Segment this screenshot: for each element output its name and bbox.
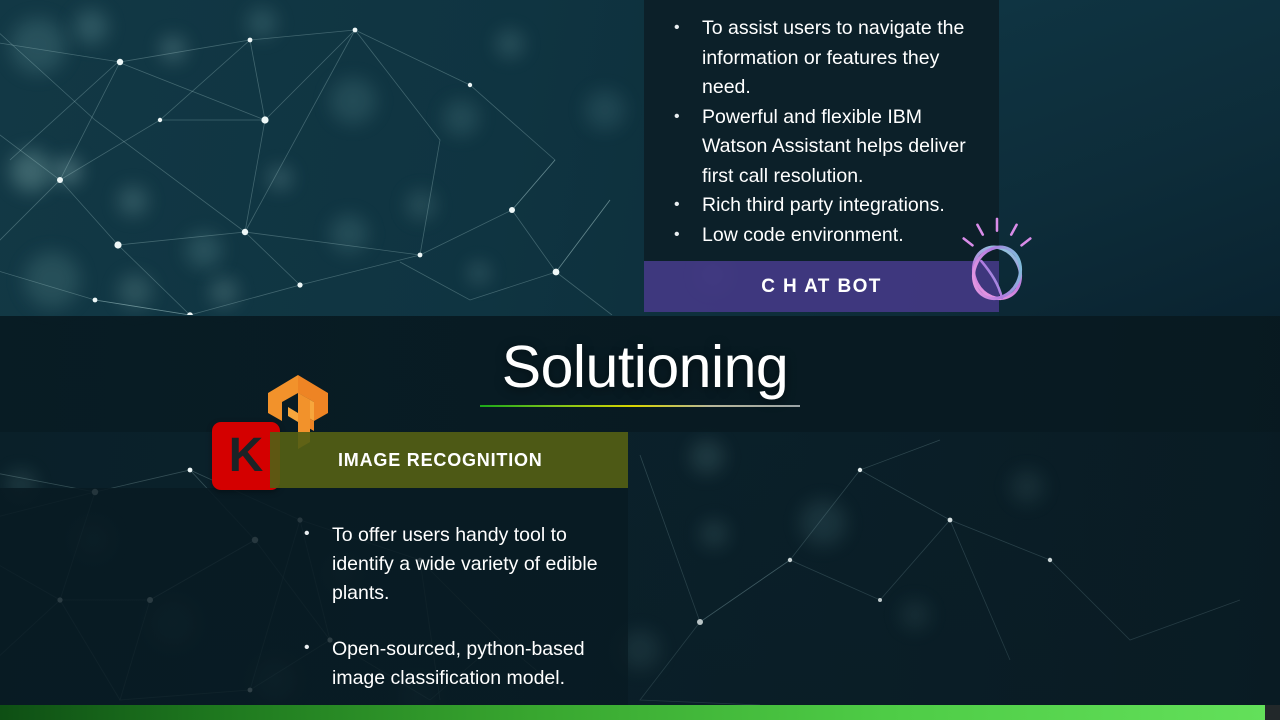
ibm-watson-logo	[948, 214, 1046, 312]
list-item: To assist users to navigate the informat…	[660, 14, 990, 103]
background-bottom-right-vignette	[628, 430, 1280, 720]
bottom-accent-bar	[0, 705, 1265, 720]
image-recognition-bullet-list: To offer users handy tool to identify a …	[290, 521, 620, 693]
chatbot-bullet-list: To assist users to navigate the informat…	[660, 14, 990, 250]
image-recognition-banner: IMAGE RECOGNITION	[270, 432, 628, 488]
list-item: Open-sourced, python-based image classif…	[290, 635, 620, 693]
list-item: To offer users handy tool to identify a …	[290, 521, 620, 608]
chatbot-banner-label: C H AT BOT	[761, 276, 882, 298]
list-item: Rich third party integrations.	[660, 191, 990, 221]
list-item: Powerful and flexible IBM Watson Assista…	[660, 103, 990, 192]
image-recognition-banner-label: IMAGE RECOGNITION	[338, 450, 543, 471]
title-underline	[480, 405, 800, 407]
chatbot-banner: C H AT BOT	[644, 261, 999, 312]
page-title: Solutioning	[480, 332, 810, 402]
bottom-accent-bar-end	[1265, 705, 1280, 720]
keras-logo-letter: K	[229, 432, 264, 480]
list-item: Low code environment.	[660, 221, 990, 251]
slide-canvas: To assist users to navigate the informat…	[0, 0, 1280, 720]
